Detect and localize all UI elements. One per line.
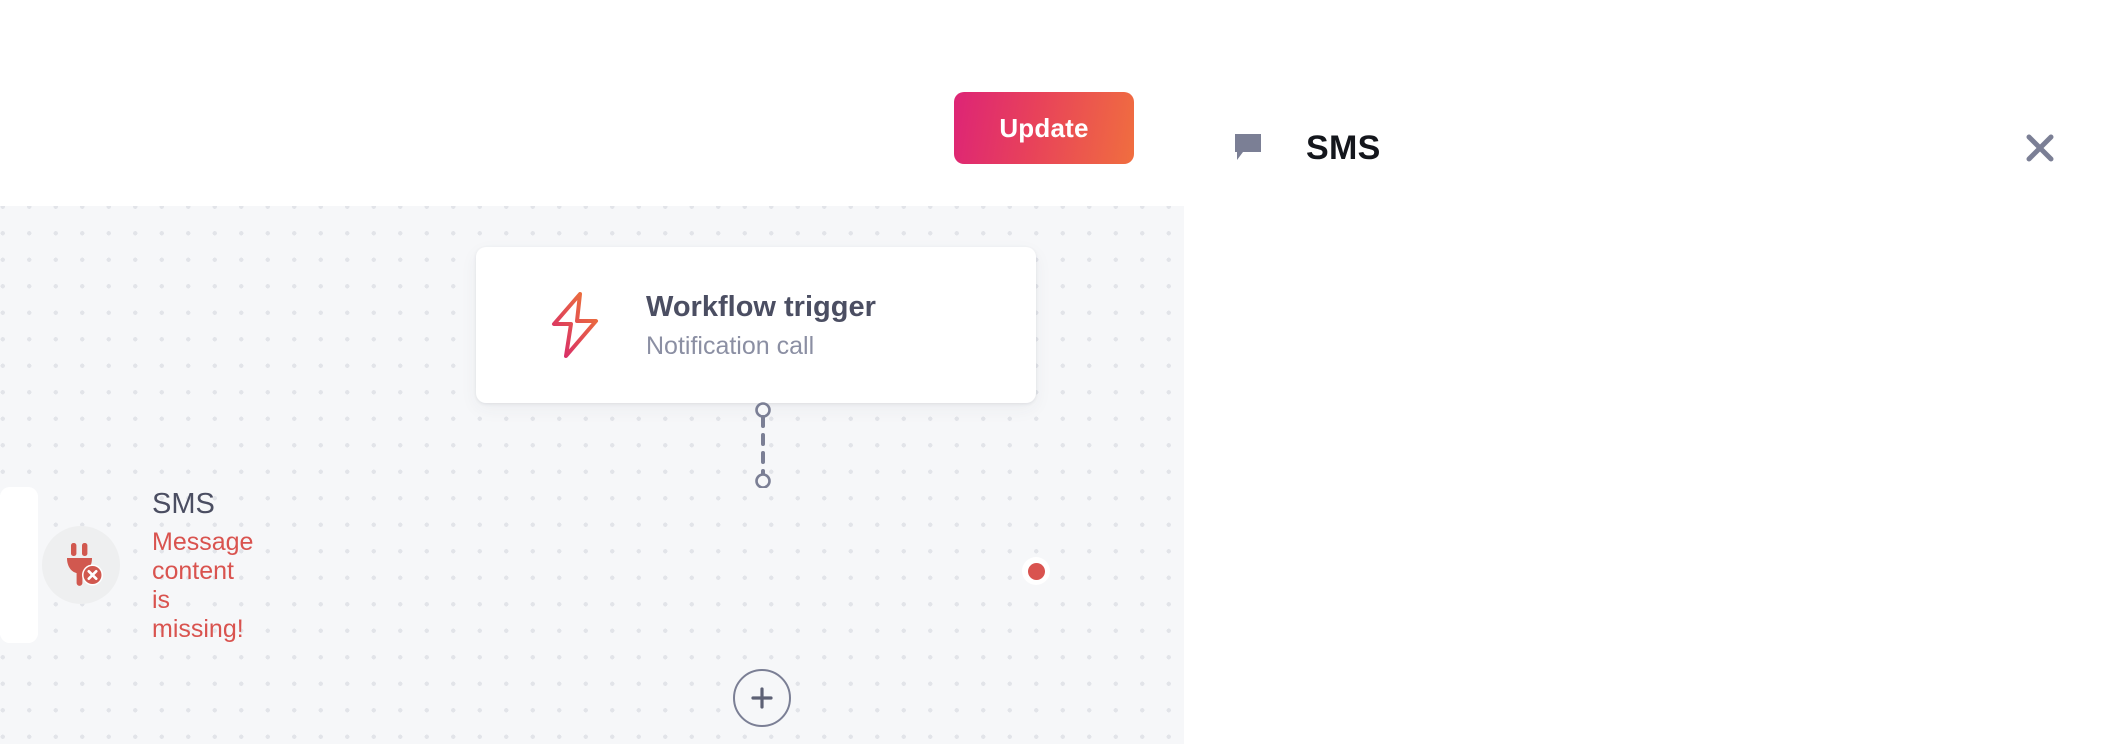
node-connector: [748, 402, 778, 488]
workflow-node-trigger-subtitle: Notification call: [646, 332, 876, 361]
workflow-node-trigger-text: Workflow trigger Notification call: [646, 289, 876, 360]
node-icon-background: [42, 526, 120, 604]
workflow-node-trigger-title: Workflow trigger: [646, 289, 876, 325]
workflow-node-sms-text: SMS Message content is missing!: [152, 486, 253, 644]
panel-header: SMS: [1232, 118, 2062, 178]
workflow-node-trigger[interactable]: Workflow trigger Notification call: [476, 247, 1036, 403]
workflow-node-sms-body: SMS Message content is missing!: [0, 487, 38, 643]
workflow-node-sms-title: SMS: [152, 486, 253, 522]
workflow-node-sms-error: Message content is missing!: [152, 528, 253, 644]
chat-bubble-icon: [1232, 131, 1268, 165]
workflow-canvas[interactable]: Workflow trigger Notification call: [0, 206, 1184, 744]
panel-title: SMS: [1306, 129, 1381, 168]
workflow-editor-pane: Update Workflow t: [0, 0, 1184, 744]
plug-disconnected-icon: [38, 526, 124, 604]
node-output-handle[interactable]: [1022, 557, 1050, 585]
lightning-bolt-icon: [532, 290, 618, 360]
update-button[interactable]: Update: [954, 92, 1134, 164]
workflow-node-sms[interactable]: SMS Message content is missing!: [0, 487, 38, 643]
close-icon[interactable]: [2018, 126, 2062, 170]
step-details-panel: SMS You have multiple provider instances…: [1184, 0, 2104, 744]
add-step-button[interactable]: [733, 669, 791, 727]
app-root: Update Workflow t: [0, 0, 2104, 744]
node-output-dot: [1028, 563, 1045, 580]
